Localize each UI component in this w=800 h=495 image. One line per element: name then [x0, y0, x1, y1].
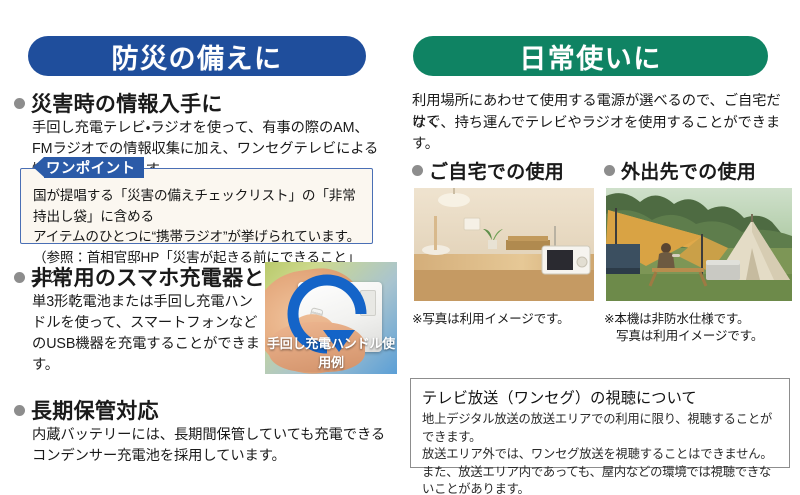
photo-camping-illustration	[606, 188, 792, 301]
broadcast-note-title: テレビ放送（ワンセグ）の視聴について	[422, 386, 779, 408]
heading-long-term-storage: 長期保管対応	[14, 395, 159, 425]
right-column-header: 日常使いに	[413, 36, 768, 76]
bullet-dot-icon	[412, 165, 423, 176]
heading-home-use: ご自宅での使用	[412, 157, 564, 184]
bullet-dot-icon	[604, 165, 615, 176]
broadcast-note-box: テレビ放送（ワンセグ）の視聴について 地上デジタル放送の放送エリアでの利用に限り…	[410, 378, 790, 468]
caption-home-use-line-1: ※写真は利用イメージです。	[412, 311, 592, 328]
body-emergency-charger: 単3形乾電池または手回し充電ハンドルを使って、スマートフォンなどのUSB機器を充…	[32, 292, 260, 376]
bullet-dot-icon	[14, 98, 25, 109]
photo-home-use	[414, 188, 594, 301]
heading-emergency-charger: 非常用のスマホ充電器として	[14, 262, 307, 292]
photo-hand-crank-usage: 手回し充電ハンドル使用例	[265, 262, 397, 374]
caption-outdoor-use-line-1: ※本機は非防水仕様です。	[604, 311, 794, 328]
onepoint-line-1: 国が提唱する「災害の備えチェックリスト」の「非常持出し袋」に含める	[33, 186, 362, 227]
left-column-disaster-preparedness: 防災の備えに 災害時の情報入手に 手回し充電テレビ・ラジオを使って、有事の際のA…	[0, 0, 400, 495]
caption-outdoor-use-line-2: 写真は利用イメージです。	[616, 328, 796, 345]
tab-arrow-icon	[33, 157, 44, 177]
left-column-header: 防災の備えに	[28, 36, 366, 76]
bullet-dot-icon	[14, 272, 25, 283]
onepoint-tab-wrapper: ワンポイント	[33, 157, 144, 178]
heading-text: 災害時の情報入手に	[31, 88, 223, 118]
broadcast-note-line-1: 地上デジタル放送の放送エリアでの利用に限り、視聴することができます。	[422, 411, 779, 446]
crank-photo-caption: 手回し充電ハンドル使用例	[265, 331, 397, 374]
heading-disaster-info: 災害時の情報入手に	[14, 88, 223, 118]
broadcast-note-line-2: 放送エリア外では、ワンセグ放送を視聴することはできません。	[422, 446, 779, 464]
body-long-term-storage: 内蔵バッテリーには、長期間保管していても充電できるコンデンサー充電池を採用してい…	[32, 425, 390, 467]
onepoint-box: ワンポイント 国が提唱する「災害の備えチェックリスト」の「非常持出し袋」に含める…	[20, 168, 373, 244]
heading-outdoor-use: 外出先での使用	[604, 157, 756, 184]
onepoint-tab-label: ワンポイント	[44, 157, 144, 178]
right-intro-line-2: なく、持ち運んでテレビやラジオを使用することができます。	[412, 113, 790, 155]
bullet-dot-icon	[14, 405, 25, 416]
onepoint-line-2: アイテムのひとつに“携帯ラジオ”が挙げられています。	[33, 227, 362, 248]
product-feature-page: 防災の備えに 災害時の情報入手に 手回し充電テレビ・ラジオを使って、有事の際のA…	[0, 0, 800, 495]
heading-text: 長期保管対応	[31, 395, 159, 425]
photo-outdoor-use	[606, 188, 792, 301]
heading-text: 外出先での使用	[621, 157, 756, 184]
photo-home-illustration	[414, 188, 594, 301]
broadcast-note-line-3: また、放送エリア内であっても、屋内などの環境では視聴できないことがあります。	[422, 464, 779, 495]
heading-text: ご自宅での使用	[429, 157, 564, 184]
